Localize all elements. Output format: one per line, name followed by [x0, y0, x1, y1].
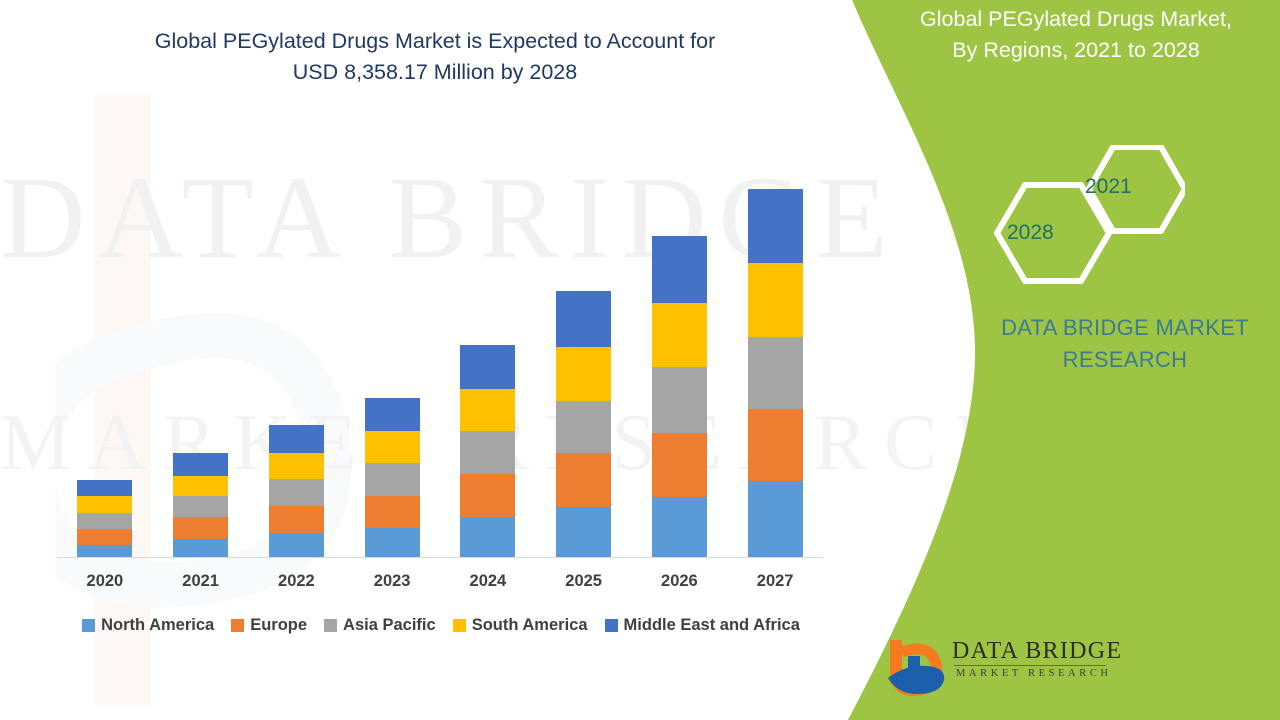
x-tick-2027: 2027: [727, 572, 823, 591]
bar-column-2023: [344, 140, 440, 558]
bar-segment: [556, 507, 611, 558]
x-axis-line: [57, 557, 823, 558]
hexagon-label-2028: 2028: [1007, 221, 1054, 245]
hexagon-badges: 2028 2021: [985, 145, 1185, 295]
bar-segment: [460, 431, 515, 474]
bar-column-2024: [440, 140, 536, 558]
bar-segment: [748, 337, 803, 409]
legend-label: Europe: [250, 616, 307, 635]
legend-swatch-icon: [324, 619, 337, 632]
bar-column-2022: [249, 140, 345, 558]
bar-segment: [173, 476, 228, 496]
bar-segment: [269, 533, 324, 558]
bar-segment: [77, 496, 132, 513]
bar-segment: [460, 517, 515, 558]
bar-segment: [460, 474, 515, 517]
x-tick-2020: 2020: [57, 572, 153, 591]
brand-name-line-2: RESEARCH: [965, 344, 1280, 376]
bar-segment: [269, 479, 324, 506]
logo-wordmark: DATA BRIDGE: [952, 638, 1122, 665]
x-tick-2026: 2026: [632, 572, 728, 591]
x-tick-2021: 2021: [153, 572, 249, 591]
bar-segment: [556, 291, 611, 347]
bar-segment: [269, 506, 324, 533]
bar-stack: [365, 398, 420, 558]
bar-stack: [173, 453, 228, 558]
legend-swatch-icon: [605, 619, 618, 632]
legend-label: South America: [472, 616, 588, 635]
bar-stack: [460, 345, 515, 558]
bar-segment: [365, 463, 420, 496]
bar-segment: [652, 497, 707, 558]
bar-segment: [748, 481, 803, 558]
legend-swatch-icon: [82, 619, 95, 632]
legend-item[interactable]: South America: [453, 616, 588, 635]
bar-segment: [748, 189, 803, 263]
bar-segment: [556, 347, 611, 401]
bar-segment: [77, 529, 132, 545]
bar-segment: [269, 425, 324, 453]
legend-item[interactable]: North America: [82, 616, 214, 635]
x-axis-tick-labels: 20202021202220232024202520262027: [57, 572, 823, 591]
bar-stack: [556, 291, 611, 558]
bar-column-2020: [57, 140, 153, 558]
panel-heading-line-1: Global PEGylated Drugs Market,: [880, 4, 1272, 35]
logo-subtitle: MARKET RESEARCH: [956, 668, 1112, 679]
x-tick-2025: 2025: [536, 572, 632, 591]
bar-segment: [365, 431, 420, 463]
bar-segment: [652, 236, 707, 303]
bar-segment: [269, 453, 324, 479]
x-tick-2023: 2023: [344, 572, 440, 591]
brand-name-text: DATA BRIDGE MARKET RESEARCH: [965, 312, 1280, 376]
chart-title: Global PEGylated Drugs Market is Expecte…: [60, 26, 810, 88]
bar-column-2021: [153, 140, 249, 558]
legend-label: North America: [101, 616, 214, 635]
data-bridge-logo: DATA BRIDGE MARKET RESEARCH: [886, 634, 1116, 696]
bar-stack: [652, 236, 707, 558]
bar-segment: [748, 409, 803, 481]
legend-item[interactable]: Middle East and Africa: [605, 616, 800, 635]
bar-segment: [460, 345, 515, 389]
bar-stack: [269, 425, 324, 558]
bar-segment: [365, 496, 420, 528]
chart-title-line-1: Global PEGylated Drugs Market is Expecte…: [60, 26, 810, 57]
hexagon-label-2021: 2021: [1085, 175, 1132, 199]
bar-segment: [173, 453, 228, 476]
legend-item[interactable]: Europe: [231, 616, 307, 635]
bar-column-2027: [727, 140, 823, 558]
legend-label: Asia Pacific: [343, 616, 436, 635]
bar-segment: [365, 398, 420, 431]
bar-segment: [556, 401, 611, 453]
x-tick-2022: 2022: [249, 572, 345, 591]
bar-segment: [748, 263, 803, 337]
bar-segment: [77, 480, 132, 496]
legend-item[interactable]: Asia Pacific: [324, 616, 436, 635]
bar-segment: [173, 496, 228, 517]
panel-heading: Global PEGylated Drugs Market, By Region…: [880, 4, 1272, 66]
bar-segment: [365, 528, 420, 558]
legend-label: Middle East and Africa: [624, 616, 800, 635]
bar-segment: [460, 389, 515, 431]
bar-segment: [173, 539, 228, 558]
bar-column-2025: [536, 140, 632, 558]
brand-name-line-1: DATA BRIDGE MARKET: [965, 312, 1280, 344]
x-tick-2024: 2024: [440, 572, 536, 591]
panel-heading-line-2: By Regions, 2021 to 2028: [880, 35, 1272, 66]
bar-stack: [748, 189, 803, 558]
bar-segment: [652, 367, 707, 433]
bar-stack: [77, 480, 132, 558]
logo-mark-icon: [886, 634, 950, 696]
bar-segment: [652, 303, 707, 367]
chart-plot-area: [57, 140, 823, 558]
legend-swatch-icon: [453, 619, 466, 632]
legend-swatch-icon: [231, 619, 244, 632]
bar-segment: [77, 513, 132, 529]
bar-segment: [173, 517, 228, 539]
bar-segment: [652, 433, 707, 497]
bar-column-2026: [632, 140, 728, 558]
infographic-page: DATA BRIDGE MARKET RESEARCH Global PEGyl…: [0, 0, 1280, 720]
chart-legend: North AmericaEuropeAsia PacificSouth Ame…: [46, 616, 836, 635]
bar-segment: [556, 453, 611, 507]
logo-divider: [954, 665, 1106, 666]
chart-title-line-2: USD 8,358.17 Million by 2028: [60, 57, 810, 88]
